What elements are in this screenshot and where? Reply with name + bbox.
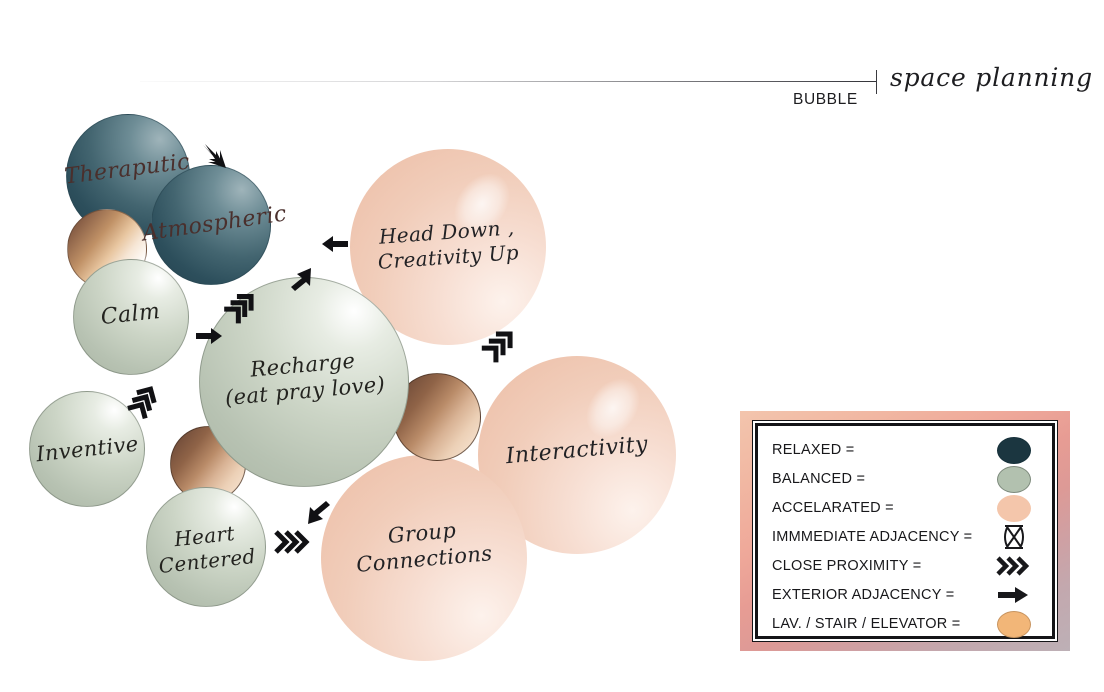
legend-row-immediate-adjacency: IMMMEDIATE ADJACENCY = <box>772 523 1042 551</box>
circle-orange-icon <box>997 611 1031 638</box>
legend-row-lav-stair-elevator: LAV. / STAIR / ELEVATOR = <box>772 610 1042 638</box>
legend-label: CLOSE PROXIMITY = <box>772 558 921 574</box>
bubble-label: Inventive <box>35 431 140 468</box>
triple-chevron-icon <box>994 554 1034 578</box>
legend-label: BALANCED = <box>772 471 865 487</box>
bubble-atmospheric[interactable]: Atmospheric <box>151 165 271 285</box>
legend-row-relaxed: RELAXED = <box>772 436 1042 464</box>
legend-panel: RELAXED = BALANCED = ACCELARATED = IMMME… <box>755 423 1055 639</box>
legend-label: EXTERIOR ADJACENCY = <box>772 587 954 603</box>
hourglass-icon <box>1001 522 1027 552</box>
arrow-exterior-adjacency-group-connections <box>306 500 334 528</box>
arrow-exterior-adjacency-calm-recharge <box>196 326 224 346</box>
legend-swatch <box>986 437 1042 464</box>
bubble-label: Heart Centered <box>155 519 257 578</box>
legend-swatch <box>986 522 1042 552</box>
bubble-label: Head Down , Creativity Up <box>376 215 520 274</box>
legend-swatch <box>986 611 1042 638</box>
bubble-calm[interactable]: Calm <box>73 259 189 375</box>
circle-peach-icon <box>997 495 1031 522</box>
legend-swatch <box>986 554 1042 578</box>
bubble-highlight <box>443 163 521 245</box>
header-bubble-word: BUBBLE <box>793 91 858 109</box>
bubble-heart-centered[interactable]: Heart Centered <box>146 487 266 607</box>
page-title: space planning <box>890 63 1093 92</box>
circle-dark-teal-icon <box>997 437 1031 464</box>
header-rule <box>140 81 877 82</box>
arrow-exterior-adjacency-head-down <box>320 234 348 254</box>
legend-swatch <box>986 585 1042 605</box>
legend-label: IMMMEDIATE ADJACENCY = <box>772 529 972 545</box>
arrow-right-icon <box>997 585 1031 605</box>
bubble-label: Recharge (eat pray love) <box>221 345 386 411</box>
circle-sage-icon <box>997 466 1031 493</box>
arrow-exterior-adjacency-recharge-up <box>288 266 314 292</box>
bubble-label: Calm <box>100 298 162 331</box>
chevron-close-proximity-heart-group <box>272 528 314 556</box>
legend-swatch <box>986 495 1042 522</box>
chevron-close-proximity-atmospheric-recharge <box>222 290 266 334</box>
bubble-label: Interactivity <box>504 431 648 471</box>
arrow-exterior-adjacency-theraputic-atmospheric <box>200 142 230 172</box>
diagram-canvas: BUBBLE space planning Theraputic Atmosph… <box>0 0 1104 692</box>
legend-row-exterior-adjacency: EXTERIOR ADJACENCY = <box>772 581 1042 609</box>
legend-row-accelarated: ACCELARATED = <box>772 494 1042 522</box>
legend-label: ACCELARATED = <box>772 500 894 516</box>
legend-label: LAV. / STAIR / ELEVATOR = <box>772 616 961 632</box>
bubble-group-connections[interactable]: Group Connections <box>321 455 527 661</box>
chevron-close-proximity-head-down-interactivity <box>478 326 528 376</box>
legend-swatch <box>986 466 1042 493</box>
chevron-close-proximity-inventive-heart <box>126 385 166 425</box>
bubble-label: Group Connections <box>353 514 493 578</box>
header-tick <box>876 70 877 94</box>
legend-row-balanced: BALANCED = <box>772 465 1042 493</box>
legend-row-close-proximity: CLOSE PROXIMITY = <box>772 552 1042 580</box>
legend-label: RELAXED = <box>772 442 854 458</box>
bubble-highlight <box>576 369 651 448</box>
bubble-label: Atmospheric <box>141 201 289 248</box>
